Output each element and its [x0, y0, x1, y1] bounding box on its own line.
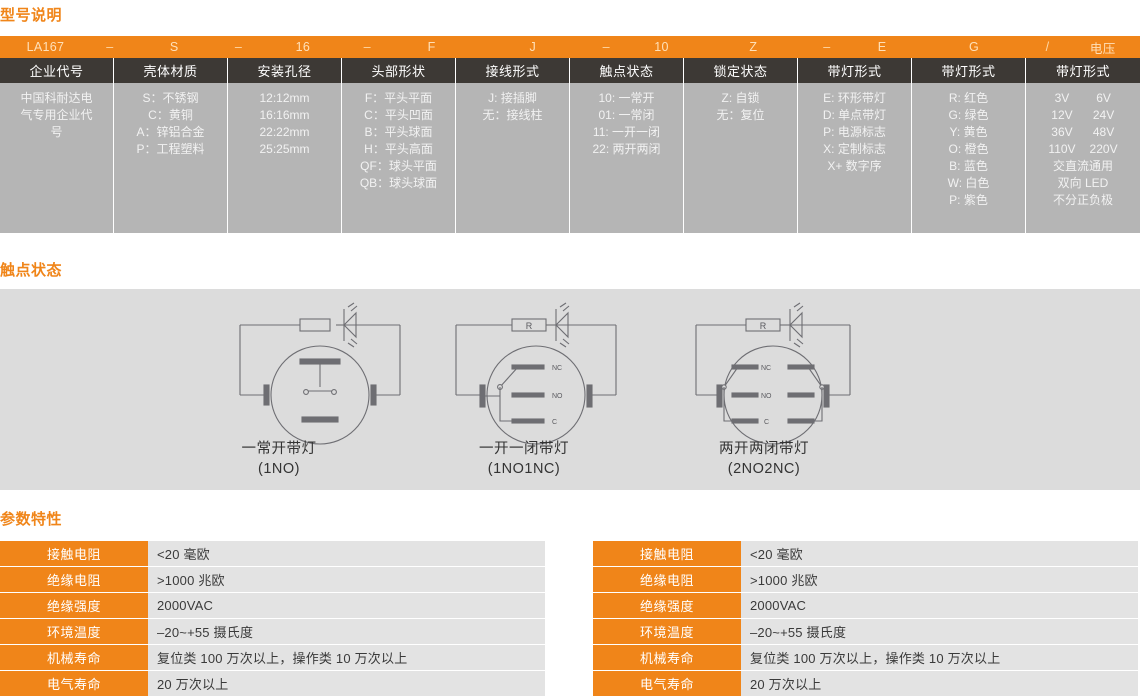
- diagram-code: (1NO1NC): [404, 459, 644, 479]
- model-line: X: 定制标志: [823, 141, 886, 158]
- model-line: D: 单点带灯: [823, 107, 886, 124]
- parameter-label: 接触电阻: [0, 541, 148, 566]
- voltage-note: 双向 LED: [1058, 175, 1109, 192]
- model-line: F：平头平面: [365, 90, 432, 107]
- parameter-value: >1000 兆欧: [741, 567, 1138, 592]
- parameter-row: 电气寿命 20 万次以上: [0, 671, 545, 696]
- parameter-label: 接触电阻: [593, 541, 741, 566]
- model-line: 12:12mm: [259, 90, 309, 107]
- parameter-row: 机械寿命 复位类 100 万次以上，操作类 10 万次以上: [593, 645, 1138, 670]
- model-line: 无：接线柱: [482, 107, 542, 124]
- model-code-voltage: 电压: [1066, 36, 1140, 58]
- model-line: C：平头凹面: [364, 107, 433, 124]
- diagram-caption-2no2nc: 两开两闭带灯 (2NO2NC): [644, 439, 884, 479]
- model-description-table: LA167 – S – 16 – F J – 10 Z – E G / 电压 企…: [0, 36, 1140, 233]
- model-line: A：锌铝合金: [136, 124, 204, 141]
- parameter-value: 2000VAC: [148, 593, 545, 618]
- terminal-label-nc: NC: [761, 365, 771, 372]
- model-header-7: 带灯形式: [798, 58, 912, 83]
- parameter-value: –20~+55 摄氏度: [741, 619, 1138, 644]
- parameter-label: 环境温度: [0, 619, 148, 644]
- parameter-row: 绝缘强度 2000VAC: [0, 593, 545, 618]
- diagram-name: 一常开带灯: [159, 439, 399, 459]
- model-line: 10: 一常开: [598, 90, 654, 107]
- parameter-row: 绝缘电阻 >1000 兆欧: [0, 567, 545, 592]
- model-line: 25:25mm: [259, 141, 309, 158]
- model-line: H：平头高面: [364, 141, 433, 158]
- model-header-0: 企业代号: [0, 58, 114, 83]
- model-line: QB：球头球面: [360, 175, 437, 192]
- parameter-row: 接触电阻 <20 毫欧: [0, 541, 545, 566]
- model-cell-wiring-type: J: 接插脚 无：接线柱: [456, 83, 570, 233]
- model-line: 中国科耐达电: [20, 90, 92, 107]
- voltage-note: 交直流通用: [1053, 158, 1113, 175]
- parameter-value: 复位类 100 万次以上，操作类 10 万次以上: [741, 645, 1138, 670]
- model-header-3: 头部形状: [342, 58, 456, 83]
- terminal-label-no: NO: [552, 393, 563, 400]
- model-line: G: 绿色: [948, 107, 988, 124]
- parameter-row: 接触电阻 <20 毫欧: [593, 541, 1138, 566]
- parameter-label: 环境温度: [593, 619, 741, 644]
- parameter-value: –20~+55 摄氏度: [148, 619, 545, 644]
- model-code-g: G: [919, 36, 1029, 58]
- model-line: E: 环形带灯: [823, 90, 886, 107]
- model-line: 16:16mm: [259, 107, 309, 124]
- model-header-9: 带灯形式: [1026, 58, 1140, 83]
- model-line: S：不锈钢: [142, 90, 198, 107]
- diagram-name: 两开两闭带灯: [644, 439, 884, 459]
- model-line: J: 接插脚: [488, 90, 537, 107]
- diagram-1no1nc: R NC NO: [456, 303, 616, 444]
- parameter-label: 绝缘强度: [593, 593, 741, 618]
- terminal-label-nc: NC: [552, 365, 562, 372]
- parameter-value: 2000VAC: [741, 593, 1138, 618]
- parameter-label: 电气寿命: [0, 671, 148, 696]
- model-header-4: 接线形式: [456, 58, 570, 83]
- parameter-value: 20 万次以上: [148, 671, 545, 696]
- parameter-label: 绝缘电阻: [0, 567, 148, 592]
- parameter-row: 绝缘电阻 >1000 兆欧: [593, 567, 1138, 592]
- voltage-grid: 3V 6V 12V 24V 36V 48V 110V 220V 交直流通用 双向…: [1048, 90, 1117, 209]
- model-line: B: 蓝色: [949, 158, 988, 175]
- model-header-6: 锁定状态: [684, 58, 798, 83]
- model-line: W: 白色: [948, 175, 990, 192]
- model-line: 气专用企业代: [20, 107, 92, 124]
- model-body-row: 中国科耐达电 气专用企业代 号 S：不锈钢 C：黄铜 A：锌铝合金 P：工程塑料…: [0, 83, 1140, 233]
- parameter-value: 20 万次以上: [741, 671, 1138, 696]
- model-line: Y: 黄色: [949, 124, 987, 141]
- parameter-row: 电气寿命 20 万次以上: [593, 671, 1138, 696]
- voltage-value: 220V: [1090, 141, 1118, 158]
- voltage-note: 不分正负极: [1053, 192, 1113, 209]
- diagram-2no2nc: R: [696, 303, 850, 444]
- model-cell-lamp-type: E: 环形带灯 D: 单点带灯 P: 电源标志 X: 定制标志 X+ 数字序: [798, 83, 912, 233]
- model-line: R: 红色: [949, 90, 988, 107]
- model-cell-lamp-color: R: 红色 G: 绿色 Y: 黄色 O: 橙色 B: 蓝色 W: 白色 P: 紫…: [912, 83, 1026, 233]
- model-code-dash-3: –: [349, 36, 386, 58]
- model-header-1: 壳体材质: [114, 58, 228, 83]
- model-header-row: 企业代号 壳体材质 安装孔径 头部形状 接线形式 触点状态 锁定状态 带灯形式 …: [0, 58, 1140, 83]
- model-line: P：工程塑料: [136, 141, 204, 158]
- model-line: 号: [50, 124, 62, 141]
- model-code-dash-4: –: [588, 36, 625, 58]
- model-line: O: 橙色: [948, 141, 988, 158]
- diagram-caption-1no: 一常开带灯 (1NO): [159, 439, 399, 479]
- model-line: B：平头球面: [364, 124, 432, 141]
- section-heading-contact: 触点状态: [0, 263, 62, 278]
- terminal-label-c: C: [764, 419, 769, 426]
- parameter-table-left: 接触电阻 <20 毫欧 绝缘电阻 >1000 兆欧 绝缘强度 2000VAC 环…: [0, 541, 545, 697]
- parameter-value: >1000 兆欧: [148, 567, 545, 592]
- model-header-5: 触点状态: [570, 58, 684, 83]
- model-line: C：黄铜: [148, 107, 193, 124]
- voltage-value: 48V: [1093, 124, 1114, 141]
- voltage-value: 24V: [1093, 107, 1114, 124]
- model-line: 11: 一开一闭: [593, 124, 660, 141]
- model-code-16: 16: [257, 36, 349, 58]
- model-cell-contact-state: 10: 一常开 01: 一常闭 11: 一开一闭 22: 两开两闭: [570, 83, 684, 233]
- voltage-value: 6V: [1096, 90, 1111, 107]
- model-line: P: 电源标志: [823, 124, 886, 141]
- model-header-8: 带灯形式: [912, 58, 1026, 83]
- parameter-label: 绝缘电阻: [593, 567, 741, 592]
- model-code-e: E: [846, 36, 920, 58]
- diagram-code: (1NO): [159, 459, 399, 479]
- voltage-value: 110V: [1048, 141, 1075, 158]
- terminal-label-no: NO: [761, 393, 772, 400]
- product-spec-page: 型号说明 LA167 – S – 16 – F J – 10 Z – E G /…: [0, 0, 1140, 697]
- diagram-name: 一开一闭带灯: [404, 439, 644, 459]
- parameter-value: 复位类 100 万次以上，操作类 10 万次以上: [148, 645, 545, 670]
- model-code-la167: LA167: [0, 36, 92, 58]
- parameter-row: 环境温度 –20~+55 摄氏度: [0, 619, 545, 644]
- voltage-value: 12V: [1051, 107, 1072, 124]
- model-cell-lock-state: Z: 自锁 无：复位: [684, 83, 798, 233]
- diagram-1no: [240, 303, 400, 444]
- parameter-row: 机械寿命 复位类 100 万次以上，操作类 10 万次以上: [0, 645, 545, 670]
- parameter-label: 绝缘强度: [0, 593, 148, 618]
- terminal-label-c: C: [552, 419, 557, 426]
- model-code-s: S: [129, 36, 221, 58]
- parameter-value: <20 毫欧: [741, 541, 1138, 566]
- model-line: 无：复位: [716, 107, 764, 124]
- model-code-10: 10: [625, 36, 699, 58]
- model-code-f: F: [386, 36, 478, 58]
- resistor-label: R: [760, 321, 767, 331]
- model-cell-head-shape: F：平头平面 C：平头凹面 B：平头球面 H：平头高面 QF：球头平面 QB：球…: [342, 83, 456, 233]
- parameter-value: <20 毫欧: [148, 541, 545, 566]
- model-line: 22: 两开两闭: [592, 141, 660, 158]
- model-line: 22:22mm: [259, 124, 309, 141]
- model-code-dash-2: –: [221, 36, 258, 58]
- model-code-j: J: [478, 36, 588, 58]
- model-cell-voltage: 3V 6V 12V 24V 36V 48V 110V 220V 交直流通用 双向…: [1026, 83, 1140, 233]
- model-code-dash-1: –: [92, 36, 129, 58]
- diagram-code: (2NO2NC): [644, 459, 884, 479]
- model-code-slash: /: [1030, 36, 1067, 58]
- model-cell-enterprise-code: 中国科耐达电 气专用企业代 号: [0, 83, 114, 233]
- model-code-z: Z: [699, 36, 809, 58]
- model-line: 01: 一常闭: [598, 107, 654, 124]
- model-code-dash-5: –: [809, 36, 846, 58]
- model-cell-mounting-hole: 12:12mm 16:16mm 22:22mm 25:25mm: [228, 83, 342, 233]
- model-line: P: 紫色: [949, 192, 988, 209]
- parameter-label: 机械寿命: [0, 645, 148, 670]
- model-line: Z: 自锁: [722, 90, 760, 107]
- voltage-value: 36V: [1051, 124, 1072, 141]
- voltage-value: 3V: [1055, 90, 1070, 107]
- section-heading-param: 参数特性: [0, 512, 62, 527]
- model-code-row: LA167 – S – 16 – F J – 10 Z – E G / 电压: [0, 36, 1140, 58]
- model-line: QF：球头平面: [360, 158, 437, 175]
- diagram-caption-1no1nc: 一开一闭带灯 (1NO1NC): [404, 439, 644, 479]
- resistor-label: R: [526, 321, 533, 331]
- contact-state-panel: R NC NO: [0, 289, 1140, 490]
- parameter-label: 机械寿命: [593, 645, 741, 670]
- model-cell-shell-material: S：不锈钢 C：黄铜 A：锌铝合金 P：工程塑料: [114, 83, 228, 233]
- parameter-table-right: 接触电阻 <20 毫欧 绝缘电阻 >1000 兆欧 绝缘强度 2000VAC 环…: [593, 541, 1138, 697]
- model-line: X+ 数字序: [827, 158, 881, 175]
- model-header-2: 安装孔径: [228, 58, 342, 83]
- section-heading-model: 型号说明: [0, 8, 62, 23]
- parameter-row: 环境温度 –20~+55 摄氏度: [593, 619, 1138, 644]
- parameter-row: 绝缘强度 2000VAC: [593, 593, 1138, 618]
- parameter-label: 电气寿命: [593, 671, 741, 696]
